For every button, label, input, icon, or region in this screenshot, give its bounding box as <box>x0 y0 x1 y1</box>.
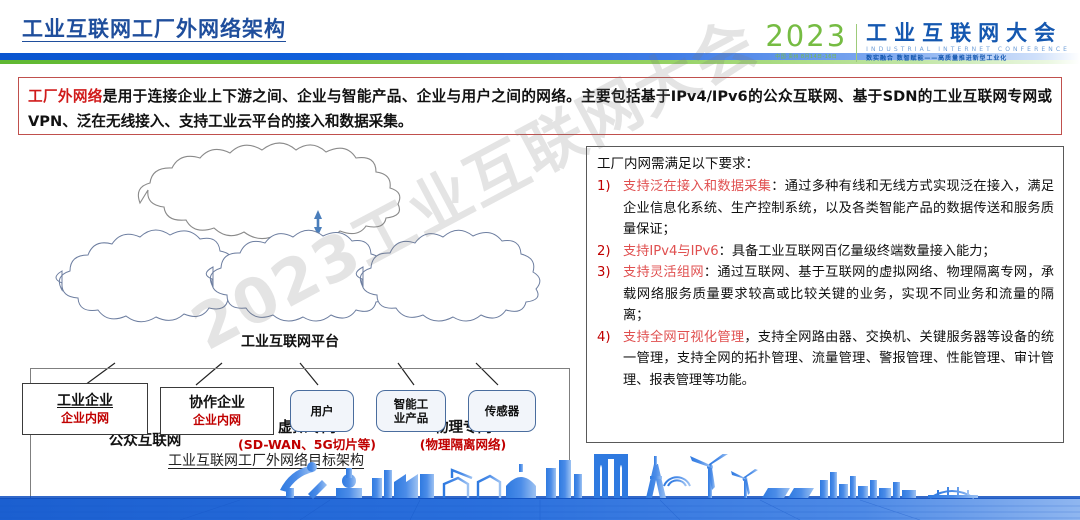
requirement-keyword: 支持IPv4与IPv6 <box>623 244 719 259</box>
node-user[interactable]: 用户 <box>290 390 354 432</box>
requirement-item: 1) 支持泛在接入和数据采集：通过多种有线和无线方式实现泛在接入，满足企业信息化… <box>597 176 1054 241</box>
logo-slogan: 数实融合 数智赋能——高质量推进新型工业化 <box>866 54 1070 63</box>
requirement-item: 3) 支持灵活组网：通过互联网、基于互联网的虚拟网络、物理隔离专网，承载网络服务… <box>597 262 1054 327</box>
wind-turbine-icon <box>731 469 758 498</box>
logo-name-cn: 工业互联网大会 <box>866 22 1070 45</box>
platform-cloud-icon <box>138 143 399 240</box>
requirements-panel: 工厂内网需满足以下要求： 1) 支持泛在接入和数据采集：通过多种有线和无线方式实… <box>586 146 1064 443</box>
requirements-heading: 工厂内网需满足以下要求： <box>597 154 1054 175</box>
skyline-blocks-icon <box>820 472 916 498</box>
requirement-number: 1) <box>597 176 623 241</box>
eiffel-tower-icon <box>646 456 666 498</box>
node-sensor[interactable]: 传感器 <box>468 390 536 432</box>
node-subtitle: 企业内网 <box>193 412 241 428</box>
node-smart-industrial-product[interactable]: 智能工业产品 <box>376 390 446 432</box>
requirement-item: 2) 支持IPv4与IPv6：具备工业互联网百亿量级终端数量接入能力； <box>597 241 1054 263</box>
logo-name-en: INDUSTRIAL INTERNET CONFERENCE <box>866 45 1070 54</box>
logo-year-block: 2023 中国·贵州 8月14日-16日 <box>765 22 856 60</box>
requirement-body: 支持泛在接入和数据采集：通过多种有线和无线方式实现泛在接入，满足企业信息化系统、… <box>623 176 1054 241</box>
wind-turbine-icon <box>690 454 728 498</box>
requirement-keyword: 支持泛在接入和数据采集 <box>623 179 771 194</box>
node-title: 传感器 <box>485 404 520 418</box>
node-partner-enterprise[interactable]: 协作企业 企业内网 <box>160 387 274 435</box>
requirement-number: 2) <box>597 241 623 263</box>
intro-keyword: 工厂外网络 <box>28 88 103 105</box>
diagram-caption: 工业互联网工厂外网络目标架构 <box>168 450 364 470</box>
radar-dish-icon <box>664 477 690 498</box>
page-title: 工业互联网工厂外网络架构 <box>22 13 286 43</box>
node-title: 协作企业 <box>189 394 245 412</box>
requirement-body: 支持全网可视化管理，支持全网路由器、交换机、关键服务器等设备的统一管理，支持全网… <box>623 327 1054 392</box>
intro-callout: 工厂外网络是用于连接企业上下游之间、企业与智能产品、企业与用户之间的网络。主要包… <box>18 77 1062 135</box>
intro-body: 是用于连接企业上下游之间、企业与智能产品、企业与用户之间的网络。主要包括基于IP… <box>28 88 1052 130</box>
twin-arch-tower-icon <box>594 454 628 498</box>
physical-private-network-cloud-icon <box>356 230 540 321</box>
node-title: 智能工业产品 <box>389 397 433 425</box>
conference-logo: 2023 中国·贵州 8月14日-16日 工业互联网大会 INDUSTRIAL … <box>765 22 1070 64</box>
solar-panel-icon <box>762 488 814 498</box>
requirement-item: 4) 支持全网可视化管理，支持全网路由器、交换机、关键服务器等设备的统一管理，支… <box>597 327 1054 392</box>
logo-date: 中国·贵州 8月14日-16日 <box>775 53 837 60</box>
node-industrial-enterprise[interactable]: 工业企业 企业内网 <box>22 383 148 435</box>
requirement-number: 4) <box>597 327 623 392</box>
logo-name-block: 工业互联网大会 INDUSTRIAL INTERNET CONFERENCE 数… <box>866 22 1070 63</box>
node-title: 用户 <box>311 404 334 418</box>
intro-text: 工厂外网络是用于连接企业上下游之间、企业与智能产品、企业与用户之间的网络。主要包… <box>28 84 1052 134</box>
requirement-body: 支持IPv4与IPv6：具备工业互联网百亿量级终端数量接入能力； <box>623 241 1054 263</box>
grid-floor <box>0 500 1080 520</box>
requirement-body: 支持灵活组网：通过互联网、基于互联网的虚拟网络、物理隔离专网，承载网络服务质量要… <box>623 262 1054 327</box>
requirement-number: 3) <box>597 262 623 327</box>
requirement-text: ：具备工业互联网百亿量级终端数量接入能力； <box>719 244 996 259</box>
logo-divider <box>856 24 857 62</box>
architecture-diagram: 工业互联网平台 工厂外网络 公众互联网 虚拟专网 (SD-WAN、5G切片等) … <box>0 140 586 470</box>
requirement-keyword: 支持全网可视化管理 <box>623 330 744 345</box>
slide-root: 工业互联网工厂外网络架构 2023 中国·贵州 8月14日-16日 工业互联网大… <box>0 0 1080 520</box>
logo-year: 2023 <box>765 22 847 51</box>
bridge-icon <box>928 487 978 498</box>
node-title: 工业企业 <box>57 392 113 410</box>
requirement-keyword: 支持灵活组网 <box>623 265 704 280</box>
node-subtitle: 企业内网 <box>61 410 109 426</box>
